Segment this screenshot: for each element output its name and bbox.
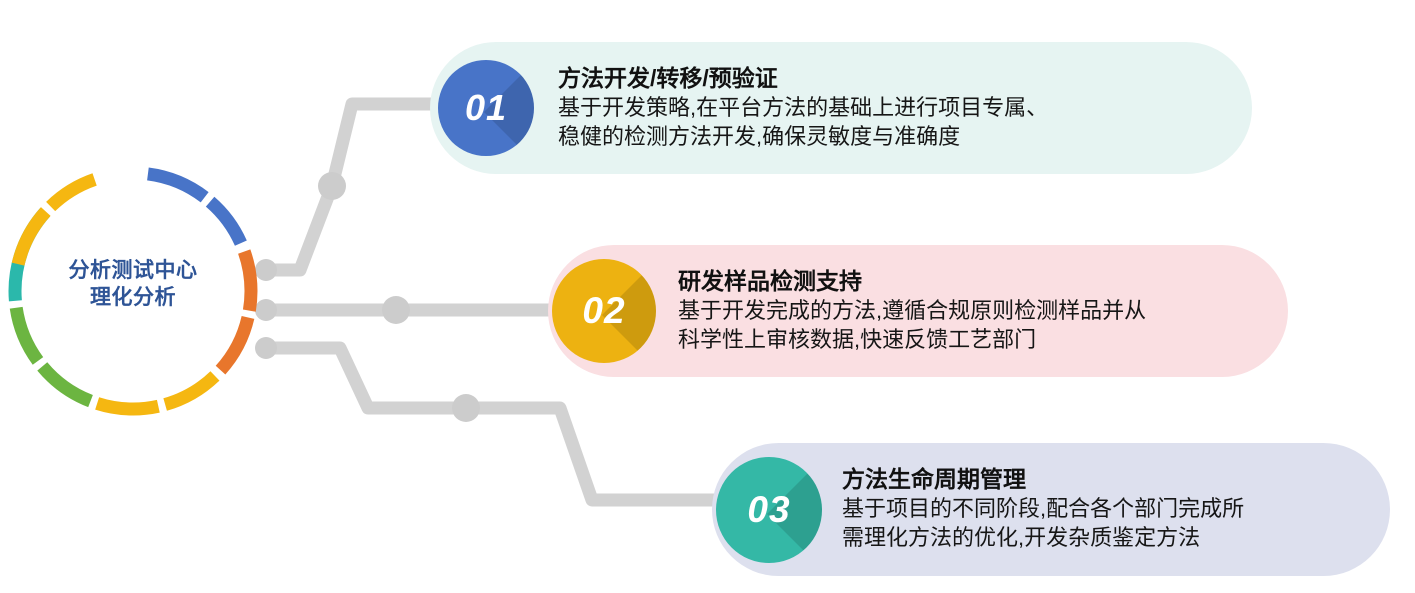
step-number-badge-01: 01 [438,60,534,156]
step-card-01[interactable]: 01 方法开发/转移/预验证 基于开发策略,在平台方法的基础上进行项目专属、 稳… [430,42,1252,174]
step-number-02: 02 [582,290,625,332]
hub-label: 分析测试中心 理化分析 [8,258,258,312]
hub-label-line1: 分析测试中心 [8,258,258,285]
card-body-02: 基于开发完成的方法,遵循合规原则检测样品并从 科学性上审核数据,快速反馈工艺部门 [678,297,1146,354]
card-title-01: 方法开发/转移/预验证 [558,65,1048,92]
connector-nodes [255,172,480,422]
step-number-badge-03: 03 [716,457,822,563]
card-body-03: 基于项目的不同阶段,配合各个部门完成所 需理化方法的优化,开发杂质鉴定方法 [842,495,1244,552]
card-text-01: 方法开发/转移/预验证 基于开发策略,在平台方法的基础上进行项目专属、 稳健的检… [558,65,1048,151]
infographic-canvas: 分析测试中心 理化分析 01 方法开发/转移/预验证 基于开发策略,在平台方法的… [0,0,1415,593]
card-text-03: 方法生命周期管理 基于项目的不同阶段,配合各个部门完成所 需理化方法的优化,开发… [842,466,1244,552]
step-number-01: 01 [465,87,507,129]
card-text-02: 研发样品检测支持 基于开发完成的方法,遵循合规原则检测样品并从 科学性上审核数据… [678,268,1146,354]
card-body-01: 基于开发策略,在平台方法的基础上进行项目专属、 稳健的检测方法开发,确保灵敏度与… [558,94,1048,151]
card-title-02: 研发样品检测支持 [678,268,1146,295]
step-number-03: 03 [747,489,790,531]
step-card-03[interactable]: 03 方法生命周期管理 基于项目的不同阶段,配合各个部门完成所 需理化方法的优化… [712,443,1390,576]
center-hub: 分析测试中心 理化分析 [8,166,258,416]
hub-label-line2: 理化分析 [8,285,258,312]
step-number-badge-02: 02 [552,259,656,363]
card-title-03: 方法生命周期管理 [842,466,1244,493]
step-card-02[interactable]: 02 研发样品检测支持 基于开发完成的方法,遵循合规原则检测样品并从 科学性上审… [548,245,1288,377]
